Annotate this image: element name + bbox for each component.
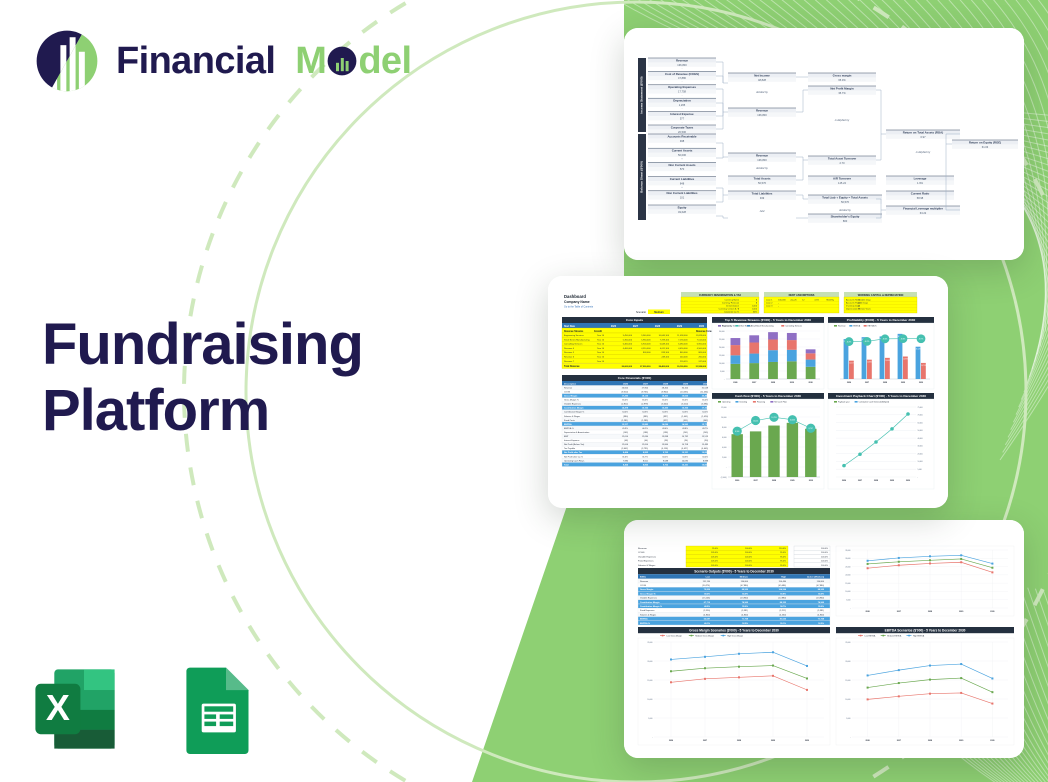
svg-text:Current Ratio: Current Ratio xyxy=(911,191,930,195)
svg-text:(30): (30) xyxy=(704,440,708,442)
svg-text:(3,381): (3,381) xyxy=(742,610,749,612)
svg-text:15,000: 15,000 xyxy=(845,680,850,682)
svg-text:2026: 2026 xyxy=(733,382,737,384)
svg-text:949: 949 xyxy=(760,196,765,200)
svg-text:Gross Margin %: Gross Margin % xyxy=(640,592,656,595)
svg-text:100.0%: 100.0% xyxy=(821,548,828,550)
svg-text:(3,381): (3,381) xyxy=(818,610,825,612)
brand-logo-o-mark xyxy=(327,46,357,76)
svg-text:95.0%: 95.0% xyxy=(780,561,786,563)
svg-text:Description: Description xyxy=(564,382,577,385)
svg-text:938: 938 xyxy=(680,139,685,143)
svg-text:49.6%: 49.6% xyxy=(883,339,888,341)
svg-text:Loan 2: Loan 2 xyxy=(766,302,773,304)
svg-text:Scenario Outputs ($'000) - 5 Y: Scenario Outputs ($'000) - 5 Years to De… xyxy=(694,569,774,573)
svg-text:COGS: COGS xyxy=(640,585,647,587)
svg-text:X: X xyxy=(46,687,70,728)
svg-text:6,000: 6,000 xyxy=(722,437,727,439)
svg-text:9,702: 9,702 xyxy=(663,452,669,454)
svg-text:10,838: 10,838 xyxy=(702,452,709,454)
page-title-line-1: Fundraising xyxy=(42,312,363,378)
svg-text:EBITDA %: EBITDA % xyxy=(640,622,650,625)
svg-text:869,000: 869,000 xyxy=(698,352,706,354)
svg-text:Contribution Margin %: Contribution Margin % xyxy=(564,411,584,414)
svg-text:Small Series Manufacturing: Small Series Manufacturing xyxy=(564,338,590,341)
svg-text:Revenue: Revenue xyxy=(638,548,648,550)
svg-text:High EBITDA: High EBITDA xyxy=(913,634,925,637)
svg-text:EBITDA %: EBITDA % xyxy=(564,427,574,430)
svg-text:2029: 2029 xyxy=(683,383,689,385)
svg-text:240,000: 240,000 xyxy=(680,357,688,359)
svg-text:15,483: 15,483 xyxy=(702,444,709,446)
svg-text:71,758: 71,758 xyxy=(818,619,825,621)
svg-text:Gross Margin %: Gross Margin % xyxy=(564,399,579,402)
svg-text:divided by: divided by xyxy=(756,166,768,170)
svg-text:100.0%: 100.0% xyxy=(745,552,752,554)
svg-text:Total Liab + Equity = Total As: Total Liab + Equity = Total Assets xyxy=(822,195,868,199)
svg-text:30,000: 30,000 xyxy=(918,446,923,448)
svg-text:5,000: 5,000 xyxy=(918,469,922,471)
svg-text:Contribution Margin: Contribution Margin xyxy=(640,601,660,604)
svg-text:10,753: 10,753 xyxy=(771,417,776,419)
svg-text:(13,960): (13,960) xyxy=(816,598,824,600)
svg-text:Contribution Margin %: Contribution Margin % xyxy=(640,605,662,608)
svg-text:(45,486): (45,486) xyxy=(778,585,786,587)
svg-text:54.3%: 54.3% xyxy=(642,412,648,414)
svg-text:Interest Expense: Interest Expense xyxy=(564,439,580,442)
svg-text:6,400,000: 6,400,000 xyxy=(623,344,633,346)
brand-logo: Financial Mdel xyxy=(34,28,411,94)
svg-text:2029: 2029 xyxy=(901,382,905,384)
svg-text:8,501: 8,501 xyxy=(643,460,649,462)
svg-text:75,000: 75,000 xyxy=(918,407,923,409)
svg-text:65.0%: 65.0% xyxy=(702,400,708,402)
svg-text:-: - xyxy=(682,94,683,97)
svg-text:100,000: 100,000 xyxy=(778,299,786,301)
svg-text:2030: 2030 xyxy=(809,480,813,482)
svg-text:Currency version $ / $: Currency version $ / $ xyxy=(719,308,740,311)
svg-text:65.0%: 65.0% xyxy=(818,593,824,595)
svg-text:14,993: 14,993 xyxy=(682,423,689,426)
svg-text:(327): (327) xyxy=(663,420,668,422)
svg-text:Operating: Operating xyxy=(722,401,730,404)
svg-text:Total Assets: Total Assets xyxy=(754,176,771,180)
svg-text:2028: 2028 xyxy=(874,480,878,482)
svg-text:Medium: Medium xyxy=(740,577,748,579)
svg-text:10,000: 10,000 xyxy=(918,461,923,463)
svg-text:Jan-26: Jan-26 xyxy=(790,299,797,301)
svg-text:54.3%: 54.3% xyxy=(682,412,688,414)
svg-text:Non Current Liabilities: Non Current Liabilities xyxy=(667,191,698,195)
svg-text:2026: 2026 xyxy=(623,383,629,385)
svg-text:46.2%: 46.2% xyxy=(865,341,870,343)
svg-text:(2,000): (2,000) xyxy=(721,477,727,479)
svg-text:54.3%: 54.3% xyxy=(662,412,668,414)
svg-text:6,080,000: 6,080,000 xyxy=(678,344,688,346)
svg-text:2028: 2028 xyxy=(928,740,932,742)
svg-text:45.9%: 45.9% xyxy=(847,341,852,343)
svg-text:2029: 2029 xyxy=(677,326,683,328)
svg-text:WORKING CAPITAL & DEPRECIATION: WORKING CAPITAL & DEPRECIATION xyxy=(858,294,904,297)
svg-text:52.5%: 52.5% xyxy=(818,623,824,625)
svg-text:2030: 2030 xyxy=(919,382,923,384)
svg-text:2028: 2028 xyxy=(772,480,776,482)
svg-text:(362): (362) xyxy=(703,420,708,422)
svg-text:47,880: 47,880 xyxy=(678,76,686,80)
svg-text:(3,394): (3,394) xyxy=(702,404,709,406)
svg-text:Revenue: Revenue xyxy=(676,58,688,62)
svg-text:2030: 2030 xyxy=(703,383,709,385)
svg-text:2030: 2030 xyxy=(990,740,994,742)
scenario-analysis-screenshot[interactable]: Revenue95.0%100.0%110.0%100.0%COGS105.0%… xyxy=(624,520,1024,758)
svg-text:2026: 2026 xyxy=(735,480,739,482)
svg-text:54.4%: 54.4% xyxy=(622,412,628,414)
svg-text:14,993: 14,993 xyxy=(903,359,908,361)
svg-text:20,000: 20,000 xyxy=(918,453,923,455)
svg-text:Cumulative Cash Generated/(Spe: Cumulative Cash Generated/(Spent) xyxy=(859,401,890,404)
svg-text:Corporate Taxes: Corporate Taxes xyxy=(671,125,694,129)
svg-text:Gross Margin: Gross Margin xyxy=(564,395,578,398)
svg-text:Scenario: Scenario xyxy=(636,311,646,314)
svg-text:Total: Total xyxy=(564,463,569,466)
svg-text:2.70: 2.70 xyxy=(839,161,845,165)
svg-text:2027: 2027 xyxy=(865,382,869,384)
svg-text:(3,040): (3,040) xyxy=(662,404,669,406)
svg-text:2027: 2027 xyxy=(897,611,901,613)
google-sheets-icon xyxy=(172,664,262,754)
svg-text:Low: Low xyxy=(706,577,711,579)
svg-text:65.0%: 65.0% xyxy=(662,400,668,402)
svg-text:2027: 2027 xyxy=(703,740,707,742)
svg-text:Financing: Financing xyxy=(757,402,765,404)
svg-text:Engineering Services: Engineering Services xyxy=(564,334,584,337)
svg-text:2027: 2027 xyxy=(858,480,862,482)
svg-text:10,155: 10,155 xyxy=(753,420,758,422)
svg-text:2028: 2028 xyxy=(883,382,887,384)
svg-text:Small Batch Manufacturing: Small Batch Manufacturing xyxy=(751,325,774,328)
svg-text:divided by: divided by xyxy=(839,208,851,212)
svg-text:34.4%: 34.4% xyxy=(702,456,708,458)
svg-text:(205): (205) xyxy=(703,432,708,434)
svg-text:High Gross Margin: High Gross Margin xyxy=(727,634,743,637)
svg-text:Gross Margin Scenarios ($'000): Gross Margin Scenarios ($'000) - 5 Years… xyxy=(689,628,779,632)
svg-text:-: - xyxy=(682,81,683,84)
svg-text:Depreciation & Amortisation: Depreciation & Amortisation xyxy=(564,431,589,434)
svg-text:101: 101 xyxy=(680,196,685,200)
svg-text:Income Statement ($'000): Income Statement ($'000) xyxy=(640,76,644,113)
svg-text:EBITDA %: EBITDA % xyxy=(868,325,877,328)
svg-text:Tax Payable: Tax Payable xyxy=(564,448,576,450)
svg-text:Non Current Assets: Non Current Assets xyxy=(668,163,695,167)
dupont-analysis-screenshot[interactable]: Income Statement ($'000)Balance Sheet ($… xyxy=(624,28,1024,260)
svg-text:Consulting Services: Consulting Services xyxy=(564,343,582,346)
svg-text:15,420: 15,420 xyxy=(662,407,669,410)
svg-text:Add: Add xyxy=(759,209,765,213)
svg-text:Go to the Table of Contents: Go to the Table of Contents xyxy=(564,306,594,309)
svg-text:27,900: 27,900 xyxy=(642,387,649,389)
svg-text:17,758: 17,758 xyxy=(678,90,686,94)
svg-text:2030: 2030 xyxy=(805,740,809,742)
svg-text:55.1%: 55.1% xyxy=(780,623,786,625)
svg-text:65.0%: 65.0% xyxy=(682,400,688,402)
svg-text:10,000: 10,000 xyxy=(719,363,725,365)
svg-text:Core Financials ($'000): Core Financials ($'000) xyxy=(618,376,652,380)
svg-text:2028: 2028 xyxy=(771,382,775,384)
svg-text:20,494: 20,494 xyxy=(702,395,709,398)
svg-text:2027: 2027 xyxy=(643,383,649,385)
svg-text:Year 10: Year 10 xyxy=(597,356,605,359)
svg-text:34.2%: 34.2% xyxy=(662,456,668,458)
svg-text:100.0%: 100.0% xyxy=(821,561,828,563)
svg-text:2029: 2029 xyxy=(790,480,794,482)
svg-text:19,565: 19,565 xyxy=(682,396,689,398)
svg-text:(3,602): (3,602) xyxy=(622,448,629,450)
svg-text:4,510,000: 4,510,000 xyxy=(641,348,651,350)
svg-text:(3,210): (3,210) xyxy=(682,404,689,406)
svg-text:2026: 2026 xyxy=(865,740,869,742)
svg-text:(10,535): (10,535) xyxy=(680,391,688,393)
brand-name-model-m: M xyxy=(295,40,326,82)
svg-text:11,628,000: 11,628,000 xyxy=(696,335,707,337)
svg-text:17,100: 17,100 xyxy=(702,408,709,410)
svg-text:Top 5 Revenue Streams ($'000): Top 5 Revenue Streams ($'000) - 5 Years … xyxy=(725,318,812,322)
svg-text:2027: 2027 xyxy=(633,326,639,328)
svg-text:60,000: 60,000 xyxy=(918,422,923,424)
svg-text:15,156: 15,156 xyxy=(642,408,649,410)
svg-text:divided by: divided by xyxy=(756,90,768,94)
svg-text:2029: 2029 xyxy=(959,740,963,742)
svg-text:Operating Expenses: Operating Expenses xyxy=(668,85,696,89)
svg-text:Low EBITDA: Low EBITDA xyxy=(865,634,877,637)
svg-text:Year 10: Year 10 xyxy=(597,351,605,354)
svg-text:74,960: 74,960 xyxy=(742,601,749,604)
svg-text:Total Revenue: Total Revenue xyxy=(564,365,580,368)
svg-text:2026: 2026 xyxy=(865,611,869,613)
svg-text:2030: 2030 xyxy=(699,326,705,328)
svg-text:(13,960): (13,960) xyxy=(740,598,748,600)
svg-text:11,058,000: 11,058,000 xyxy=(677,335,688,337)
svg-text:Revenue: Revenue xyxy=(756,153,768,157)
svg-text:104,994: 104,994 xyxy=(779,588,787,591)
svg-text:15,000: 15,000 xyxy=(845,583,850,585)
svg-text:(9,765): (9,765) xyxy=(642,391,649,393)
svg-text:45.9%: 45.9% xyxy=(622,428,628,430)
svg-text:8,166: 8,166 xyxy=(735,431,739,433)
svg-text:2030: 2030 xyxy=(990,611,994,613)
svg-text:Revenue: Revenue xyxy=(640,581,649,583)
svg-text:(15,146): (15,146) xyxy=(702,598,710,600)
svg-text:Variable Expenses: Variable Expenses xyxy=(640,597,657,600)
svg-text:2029: 2029 xyxy=(959,611,963,613)
svg-text:100.0%: 100.0% xyxy=(821,565,828,567)
svg-text:High: High xyxy=(781,577,787,579)
svg-text:15,000: 15,000 xyxy=(719,355,725,357)
svg-text:4,450,000: 4,450,000 xyxy=(678,348,688,350)
svg-text:EBITDA: EBITDA xyxy=(564,423,572,426)
page-title-line-2: Platform xyxy=(42,378,363,444)
svg-text:75,856: 75,856 xyxy=(704,589,711,591)
svg-text:100.0%: 100.0% xyxy=(745,548,752,550)
svg-text:12,882: 12,882 xyxy=(867,362,872,364)
svg-text:(4,427): (4,427) xyxy=(682,448,689,450)
svg-text:Revenue: Revenue xyxy=(838,326,846,328)
svg-text:(3,212): (3,212) xyxy=(780,610,787,612)
svg-text:8,000: 8,000 xyxy=(722,427,727,429)
svg-text:61.03: 61.03 xyxy=(982,145,989,149)
svg-text:Year 10: Year 10 xyxy=(597,334,605,337)
svg-text:(38): (38) xyxy=(664,440,668,442)
svg-text:1.9%: 1.9% xyxy=(917,181,924,185)
svg-text:55.0%: 55.0% xyxy=(818,606,824,608)
svg-text:136,800: 136,800 xyxy=(817,581,825,583)
page-title: Fundraising Platform xyxy=(42,312,363,444)
svg-text:1,000: 1,000 xyxy=(752,309,758,311)
svg-text:54.2%: 54.2% xyxy=(702,412,708,414)
svg-text:136,800: 136,800 xyxy=(757,113,767,117)
svg-text:69.8%: 69.8% xyxy=(780,593,786,595)
svg-text:25,000: 25,000 xyxy=(845,566,850,568)
svg-text:(44): (44) xyxy=(644,440,648,442)
svg-text:(4,840): (4,840) xyxy=(704,614,711,616)
svg-text:30%: 30% xyxy=(753,312,757,314)
svg-text:2030: 2030 xyxy=(906,480,910,482)
svg-text:Net Profit Margin: Net Profit Margin xyxy=(830,86,854,90)
svg-text:34.3%: 34.3% xyxy=(682,456,688,458)
svg-text:(201): (201) xyxy=(683,432,688,434)
svg-text:Leverage: Leverage xyxy=(914,176,927,180)
svg-text:(47,880): (47,880) xyxy=(740,585,748,587)
svg-text:(4,800): (4,800) xyxy=(742,614,749,616)
svg-text:Medium: Medium xyxy=(654,311,664,314)
svg-text:14,792: 14,792 xyxy=(682,436,689,438)
svg-text:2026: 2026 xyxy=(842,480,846,482)
svg-text:(50,274): (50,274) xyxy=(702,585,710,587)
svg-text:136,800: 136,800 xyxy=(677,63,687,67)
svg-text:Year 10: Year 10 xyxy=(597,343,605,346)
svg-text:Revenue Streams: Revenue Streams xyxy=(564,330,584,333)
svg-text:Revenue 4: Revenue 4 xyxy=(564,348,575,350)
svg-text:5,960,000: 5,960,000 xyxy=(641,339,651,341)
svg-text:Cash flow ($'000) - 5 Years to: Cash flow ($'000) - 5 Years to December … xyxy=(735,394,801,398)
svg-text:15,000: 15,000 xyxy=(647,680,652,682)
svg-text:1,265: 1,265 xyxy=(679,103,686,107)
svg-text:28,400: 28,400 xyxy=(662,387,669,389)
svg-text:Loan 1: Loan 1 xyxy=(766,299,773,301)
svg-text:58.2%: 58.2% xyxy=(704,593,710,595)
svg-text:Salaries & Wages: Salaries & Wages xyxy=(640,613,656,616)
svg-text:10,838: 10,838 xyxy=(702,464,709,466)
svg-text:40,000: 40,000 xyxy=(918,438,923,440)
dupont-tree: Income Statement ($'000)Balance Sheet ($… xyxy=(624,28,1024,260)
svg-text:Balance Sheet ($'000): Balance Sheet ($'000) xyxy=(640,161,644,193)
svg-text:10,000: 10,000 xyxy=(721,417,727,419)
svg-text:Variable Expenses: Variable Expenses xyxy=(564,403,581,406)
svg-text:88,920: 88,920 xyxy=(818,589,825,591)
svg-text:Year 10: Year 10 xyxy=(597,338,605,341)
svg-text:Other Revenue: Other Revenue xyxy=(739,325,752,328)
svg-text:Accounts Receivable: Accounts Receivable xyxy=(667,134,696,138)
svg-text:12,000: 12,000 xyxy=(721,407,727,409)
svg-text:2026: 2026 xyxy=(847,382,851,384)
svg-text:0.97: 0.97 xyxy=(920,135,926,139)
svg-text:50,000: 50,000 xyxy=(918,430,923,432)
svg-text:248,100: 248,100 xyxy=(661,357,669,359)
svg-text:12,694: 12,694 xyxy=(642,436,649,438)
svg-text:12,006: 12,006 xyxy=(622,444,629,446)
svg-text:(163): (163) xyxy=(623,432,628,434)
svg-text:49.7%: 49.7% xyxy=(702,428,708,430)
svg-text:49,628: 49,628 xyxy=(678,210,686,214)
svg-text:5,000: 5,000 xyxy=(846,718,850,720)
svg-text:20,000: 20,000 xyxy=(719,347,725,349)
svg-text:28,400,000: 28,400,000 xyxy=(659,365,670,368)
financial-dashboard-screenshot[interactable]: DashboardCompany NameGo to the Table of … xyxy=(548,276,948,508)
svg-text:95.0%: 95.0% xyxy=(712,548,718,550)
svg-text:Interest Expense: Interest Expense xyxy=(670,112,694,116)
svg-text:(4,560): (4,560) xyxy=(780,614,787,616)
svg-text:848: 848 xyxy=(680,181,685,185)
svg-text:multiplied by: multiplied by xyxy=(916,150,931,154)
svg-text:21,528: 21,528 xyxy=(916,349,921,351)
svg-text:Gross Margin: Gross Margin xyxy=(640,588,654,591)
svg-text:10,000: 10,000 xyxy=(845,591,850,593)
svg-text:A/R Turnover: A/R Turnover xyxy=(833,176,852,180)
svg-text:25,000: 25,000 xyxy=(845,642,850,644)
svg-text:136,800: 136,800 xyxy=(741,581,749,583)
svg-text:9,702: 9,702 xyxy=(663,464,669,466)
svg-text:2028: 2028 xyxy=(737,740,741,742)
svg-text:7,378,100: 7,378,100 xyxy=(660,339,670,341)
svg-text:20,000: 20,000 xyxy=(845,575,850,577)
svg-text:$000s: $000s xyxy=(640,577,647,579)
svg-text:6,648,100: 6,648,100 xyxy=(660,344,670,346)
svg-text:(3,550): (3,550) xyxy=(704,610,711,612)
svg-text:(48): (48) xyxy=(624,440,628,442)
svg-text:52,087: 52,087 xyxy=(704,619,711,621)
svg-text:7,980: 7,980 xyxy=(623,460,629,462)
svg-text:2029: 2029 xyxy=(771,740,775,742)
svg-text:88,920: 88,920 xyxy=(742,589,749,591)
svg-text:2028: 2028 xyxy=(928,611,932,613)
svg-text:2029: 2029 xyxy=(890,480,894,482)
svg-text:65.0%: 65.0% xyxy=(642,400,648,402)
svg-text:Start Date: Start Date xyxy=(564,325,576,328)
svg-text:Revenue 7: Revenue 7 xyxy=(564,361,575,363)
svg-text:13,860: 13,860 xyxy=(662,444,669,446)
svg-text:31,528: 31,528 xyxy=(702,387,709,389)
svg-text:50,576: 50,576 xyxy=(758,181,766,185)
svg-text:65.0%: 65.0% xyxy=(622,400,628,402)
svg-text:18,135: 18,135 xyxy=(642,396,649,398)
svg-text:10,095: 10,095 xyxy=(682,460,689,462)
svg-text:DEBT ASSUMPTIONS: DEBT ASSUMPTIONS xyxy=(789,294,815,297)
svg-text:(12,880): (12,880) xyxy=(778,598,786,600)
svg-text:Net Profit (Before Tax): Net Profit (Before Tax) xyxy=(564,443,585,446)
svg-text:4,000: 4,000 xyxy=(722,447,727,449)
svg-text:8,988: 8,988 xyxy=(703,460,709,462)
svg-text:95.0%: 95.0% xyxy=(780,556,786,558)
svg-text:7,190,000: 7,190,000 xyxy=(678,339,688,341)
svg-text:6,900,000: 6,900,000 xyxy=(641,344,651,346)
svg-text:Year 10: Year 10 xyxy=(597,347,605,350)
svg-text:14,096: 14,096 xyxy=(885,360,890,362)
svg-text:100.0%: 100.0% xyxy=(745,561,752,563)
svg-text:12,217: 12,217 xyxy=(622,424,629,426)
svg-text:Dashboard: Dashboard xyxy=(564,294,586,299)
brand-name-model-del: del xyxy=(358,40,411,82)
svg-text:100.0%: 100.0% xyxy=(745,556,752,558)
svg-text:Revenue: Revenue xyxy=(564,387,573,389)
